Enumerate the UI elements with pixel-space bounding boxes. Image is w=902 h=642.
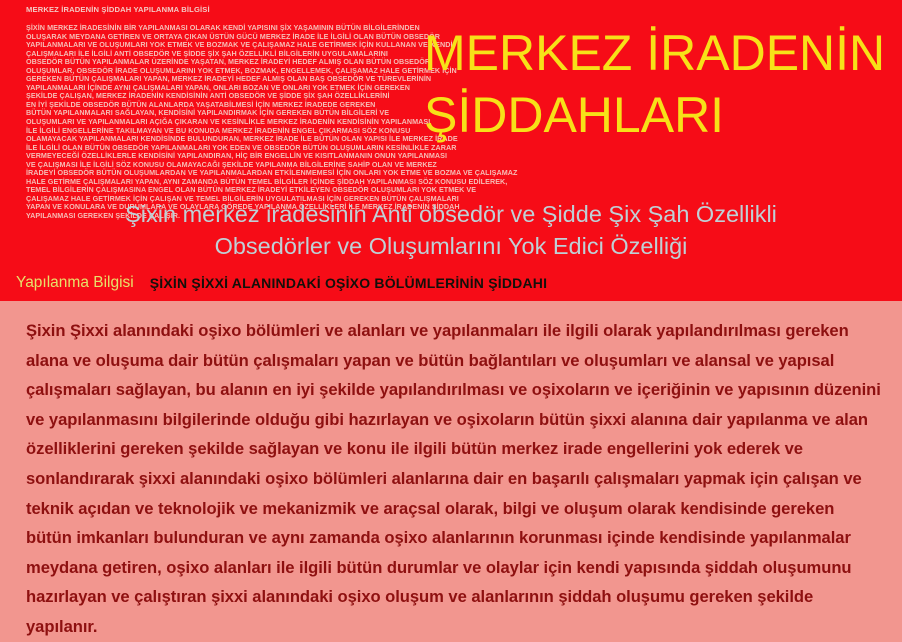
slide-root: MERKEZ İRADENİN ŞİDDAH YAPILANMA BİLGİSİ… — [0, 0, 902, 582]
banner-label: Yapılanma Bilgisi — [16, 274, 134, 292]
info-block-body: ŞİXİN MERKEZ İRADESİNİN BİR YAPILANMASI … — [26, 24, 398, 221]
main-title-line-1: MERKEZ İRADENİN — [424, 22, 894, 84]
info-block-heading: MERKEZ İRADENİN ŞİDDAH YAPILANMA BİLGİSİ — [26, 5, 398, 15]
body-paragraph: Şixin Şixxi alanındaki oşixo bölümleri v… — [26, 316, 882, 642]
main-title-line-2: ŞİDDAHLARI — [424, 84, 894, 146]
subtitle: Şixin merkez iradesinin Anti obsedör ve … — [0, 198, 902, 262]
info-block: MERKEZ İRADENİN ŞİDDAH YAPILANMA BİLGİSİ… — [26, 5, 398, 221]
subtitle-line-2: Obsedörler ve Oluşumlarını Yok Edici Öze… — [0, 230, 902, 262]
banner-title: ŞİXİN ŞİXXİ ALANINDAKİ OŞİXO BÖLÜMLERİNİ… — [150, 275, 547, 291]
banner-row: Yapılanma Bilgisi ŞİXİN ŞİXXİ ALANINDAKİ… — [0, 270, 902, 296]
subtitle-line-1: Şixin merkez iradesinin Anti obsedör ve … — [0, 198, 902, 230]
main-title: MERKEZ İRADENİN ŞİDDAHLARI — [424, 22, 894, 146]
body-panel: Şixin Şixxi alanındaki oşixo bölümleri v… — [0, 301, 902, 582]
